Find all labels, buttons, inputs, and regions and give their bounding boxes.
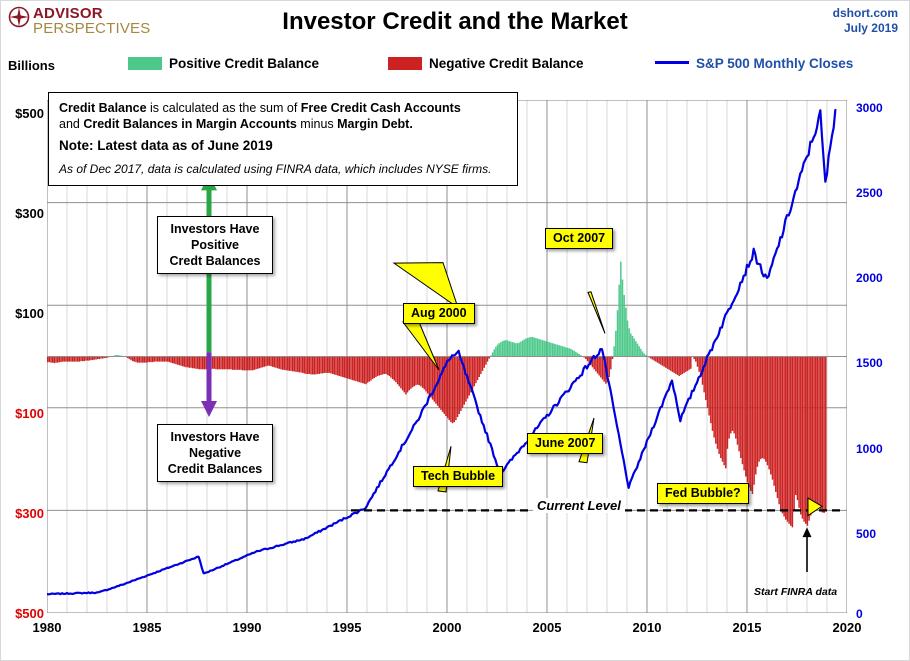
note-line-2-c: minus xyxy=(297,117,337,131)
y-axis-right-tick-3000: 3000 xyxy=(856,101,883,115)
x-axis-tick-2020: 2020 xyxy=(817,620,877,635)
y-axis-right-tick-1500: 1500 xyxy=(856,356,883,370)
page-title: Investor Credit and the Market xyxy=(0,8,910,36)
source-site: dshort.com xyxy=(833,6,898,21)
y-axis-right-tick-0: 0 xyxy=(856,607,863,621)
y-axis-left-tick-100p: $100 xyxy=(2,306,44,321)
y-axis-left-tick-100n: $100 xyxy=(2,406,44,421)
x-axis-tick-1990: 1990 xyxy=(217,620,277,635)
legend-line-blue xyxy=(655,61,689,64)
y-axis-left-tick-300p: $300 xyxy=(2,206,44,221)
note-term-margin-debt: Margin Debt. xyxy=(337,117,413,131)
y-axis-right-tick-2500: 2500 xyxy=(856,186,883,200)
investors-negative-box: Investors Have Negative Credit Balances xyxy=(157,424,273,482)
start-finra-data-label: Start FINRA data xyxy=(754,586,837,598)
investors-positive-line-3: Credt Balances xyxy=(164,253,266,269)
callout-june-2007: June 2007 xyxy=(527,433,603,454)
investors-negative-line-2: Negative xyxy=(164,445,266,461)
callout-tech-bubble: Tech Bubble xyxy=(413,466,503,487)
note-term-free-credit: Free Credit Cash Accounts xyxy=(301,101,461,115)
x-axis-tick-2005: 2005 xyxy=(517,620,577,635)
source-date: July 2019 xyxy=(833,21,898,36)
note-latest-data: Note: Latest data as of June 2019 xyxy=(59,138,507,154)
y-axis-left-tick-500p: $500 xyxy=(2,106,44,121)
callout-fed-bubble: Fed Bubble? xyxy=(657,483,749,504)
y-axis-left-tick-300n: $300 xyxy=(2,506,44,521)
note-line-2-a: and xyxy=(59,117,83,131)
note-line-1-mid: is calculated as the sum of xyxy=(147,101,301,115)
source-credit: dshort.com July 2019 xyxy=(833,6,898,36)
note-line-2: and Credit Balances in Margin Accounts m… xyxy=(59,116,507,132)
y-axis-right-tick-1000: 1000 xyxy=(856,442,883,456)
legend-item-positive-credit-balance: Positive Credit Balance xyxy=(128,56,319,71)
y-axis-right-tick-500: 500 xyxy=(856,527,876,541)
investors-negative-line-3: Credit Balances xyxy=(164,461,266,477)
note-finra-source: As of Dec 2017, data is calculated using… xyxy=(59,161,507,177)
legend-swatch-green xyxy=(128,57,162,70)
note-term-margin-accounts: Credit Balances in Margin Accounts xyxy=(83,117,296,131)
legend-item-sp500: S&P 500 Monthly Closes xyxy=(655,56,853,71)
legend-label-negative: Negative Credit Balance xyxy=(429,56,584,71)
callout-aug-2000: Aug 2000 xyxy=(403,303,475,324)
legend-item-negative-credit-balance: Negative Credit Balance xyxy=(388,56,584,71)
investors-positive-line-2: Positive xyxy=(164,237,266,253)
investors-positive-box: Investors Have Positive Credt Balances xyxy=(157,216,273,274)
units-label: Billions xyxy=(8,58,55,73)
legend-label-positive: Positive Credit Balance xyxy=(169,56,319,71)
note-term-credit-balance: Credit Balance xyxy=(59,101,147,115)
y-axis-right-tick-2000: 2000 xyxy=(856,271,883,285)
current-level-label: Current Level xyxy=(533,498,625,513)
y-axis-left-tick-500n: $500 xyxy=(2,606,44,621)
legend-swatch-red xyxy=(388,57,422,70)
x-axis-tick-2000: 2000 xyxy=(417,620,477,635)
note-line-1: Credit Balance is calculated as the sum … xyxy=(59,100,507,116)
investors-positive-line-1: Investors Have xyxy=(164,221,266,237)
investors-negative-line-1: Investors Have xyxy=(164,429,266,445)
x-axis-tick-2015: 2015 xyxy=(717,620,777,635)
x-axis-tick-2010: 2010 xyxy=(617,620,677,635)
definition-note-box: Credit Balance is calculated as the sum … xyxy=(48,92,518,186)
x-axis-tick-1985: 1985 xyxy=(117,620,177,635)
legend-label-sp500: S&P 500 Monthly Closes xyxy=(696,56,853,71)
x-axis-tick-1995: 1995 xyxy=(317,620,377,635)
callout-oct-2007: Oct 2007 xyxy=(545,228,613,249)
x-axis-tick-1980: 1980 xyxy=(17,620,77,635)
